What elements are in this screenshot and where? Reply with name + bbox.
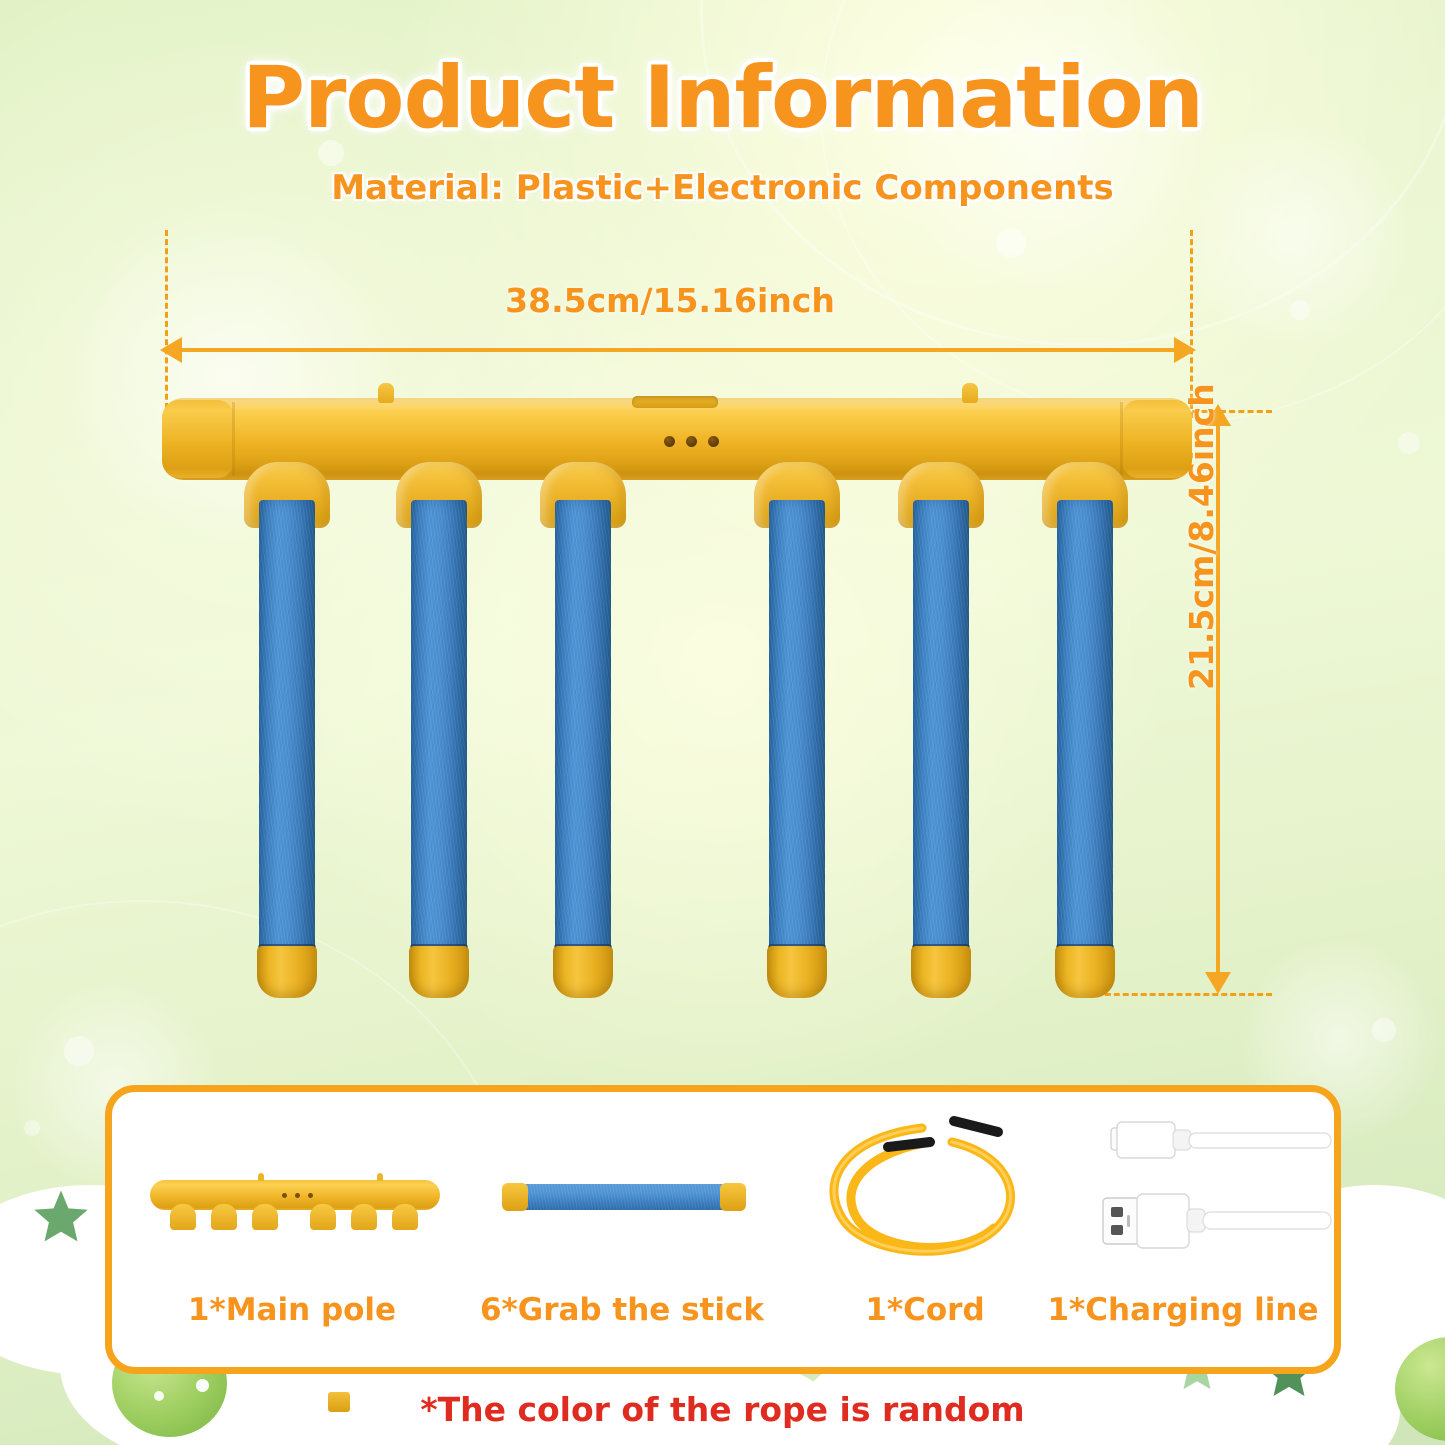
bokeh-dot bbox=[24, 1120, 40, 1136]
components-box: 1*Main pole 6*Grab the stick 1*Cord 1*Ch… bbox=[105, 1085, 1341, 1374]
component-label-cord: 1*Cord bbox=[794, 1292, 1056, 1328]
star-icon bbox=[28, 1185, 94, 1251]
charging-cable-icon bbox=[1097, 1110, 1332, 1285]
pole-seam bbox=[1120, 402, 1123, 476]
main-pole-body bbox=[162, 398, 1192, 480]
product-information-infographic: Product Information Material: Plastic+El… bbox=[0, 0, 1445, 1445]
main-pole-left-cap bbox=[162, 400, 234, 478]
cord-icon bbox=[802, 1112, 1052, 1282]
component-thumb-main-pole bbox=[132, 1112, 452, 1282]
pole-nub bbox=[962, 383, 978, 403]
led-indicator-icon bbox=[664, 436, 675, 447]
component-thumb-grab-stick bbox=[482, 1112, 762, 1282]
main-pole-right-cap bbox=[1122, 400, 1192, 478]
rope-color-footnote: *The color of the rope is random bbox=[0, 1390, 1445, 1429]
charging-port-slot bbox=[632, 396, 718, 408]
led-indicator-icon bbox=[686, 436, 697, 447]
pole-nub bbox=[378, 383, 394, 403]
grab-stick-icon bbox=[516, 1184, 736, 1210]
led-indicator-icon bbox=[708, 436, 719, 447]
component-label-charging-line: 1*Charging line bbox=[1042, 1292, 1324, 1328]
pole-seam bbox=[232, 402, 235, 476]
bokeh-dot bbox=[1372, 1018, 1396, 1042]
bokeh-dot bbox=[64, 1036, 94, 1066]
product-illustration bbox=[0, 0, 1445, 1020]
component-label-grab-stick: 6*Grab the stick bbox=[462, 1292, 782, 1328]
component-label-main-pole: 1*Main pole bbox=[132, 1292, 452, 1328]
